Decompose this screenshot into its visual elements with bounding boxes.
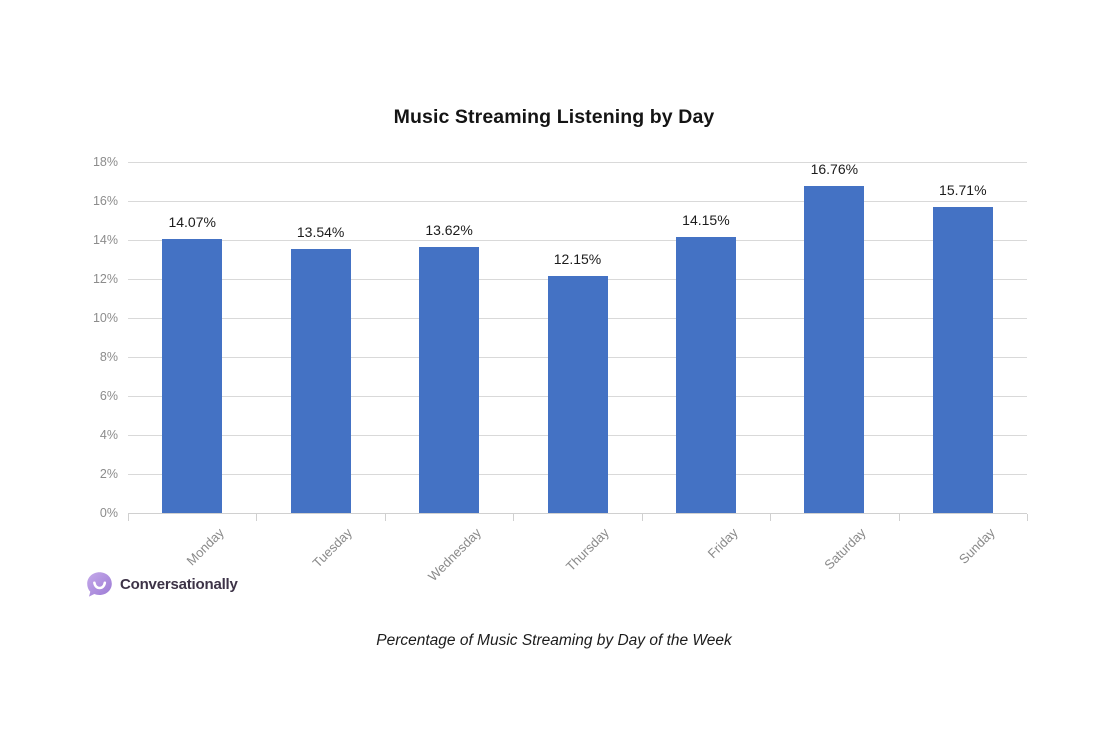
- y-axis-tick-label: 0%: [74, 506, 118, 520]
- bar[interactable]: [548, 276, 608, 513]
- x-axis-category-label: Thursday: [563, 525, 612, 574]
- x-axis-tick: [256, 514, 257, 521]
- bar-value-label: 15.71%: [903, 182, 1023, 198]
- x-axis-tick: [1027, 514, 1028, 521]
- chart-title: Music Streaming Listening by Day: [0, 106, 1108, 129]
- y-axis-tick-label: 18%: [74, 155, 118, 169]
- y-axis-tick-label: 2%: [74, 467, 118, 481]
- bar[interactable]: [291, 249, 351, 513]
- bar-value-label: 16.76%: [774, 161, 894, 177]
- x-axis-tick: [513, 514, 514, 521]
- brand-logo: Conversationally: [86, 571, 238, 598]
- y-axis-tick-label: 10%: [74, 311, 118, 325]
- bar-value-label: 13.54%: [261, 224, 381, 240]
- x-axis-tick: [899, 514, 900, 521]
- bar-value-label: 14.07%: [132, 214, 252, 230]
- x-axis-category-label: Monday: [183, 525, 226, 568]
- y-axis-tick-label: 16%: [74, 194, 118, 208]
- x-axis-tick: [385, 514, 386, 521]
- bar-value-label: 12.15%: [518, 251, 638, 267]
- plot-area: 14.07%13.54%13.62%12.15%14.15%16.76%15.7…: [128, 162, 1027, 513]
- x-axis-line: [128, 513, 1027, 514]
- x-axis-category-label: Friday: [704, 525, 740, 561]
- x-axis-tick: [128, 514, 129, 521]
- bar[interactable]: [162, 239, 222, 513]
- x-axis-category-label: Saturday: [822, 525, 869, 572]
- speech-bubble-smile-icon: [86, 571, 113, 598]
- bar[interactable]: [419, 247, 479, 513]
- chart-canvas: Music Streaming Listening by Day 18%16%1…: [0, 0, 1108, 732]
- y-axis-tick-label: 12%: [74, 272, 118, 286]
- bar-value-label: 13.62%: [389, 222, 509, 238]
- x-axis-category-label: Sunday: [956, 525, 998, 567]
- y-axis-tick-label: 4%: [74, 428, 118, 442]
- chart-caption: Percentage of Music Streaming by Day of …: [0, 632, 1108, 650]
- x-axis-category-label: Wednesday: [425, 525, 484, 584]
- x-axis-category-label: Tuesday: [310, 525, 356, 571]
- x-axis-tick: [642, 514, 643, 521]
- y-axis-tick-label: 8%: [74, 350, 118, 364]
- bar[interactable]: [676, 237, 736, 513]
- bar[interactable]: [804, 186, 864, 513]
- gridline: [128, 201, 1027, 202]
- x-axis-tick: [770, 514, 771, 521]
- y-axis-tick-label: 6%: [74, 389, 118, 403]
- gridline: [128, 240, 1027, 241]
- brand-name: Conversationally: [120, 576, 238, 593]
- y-axis-tick-label: 14%: [74, 233, 118, 247]
- bar-value-label: 14.15%: [646, 212, 766, 228]
- bar[interactable]: [933, 207, 993, 513]
